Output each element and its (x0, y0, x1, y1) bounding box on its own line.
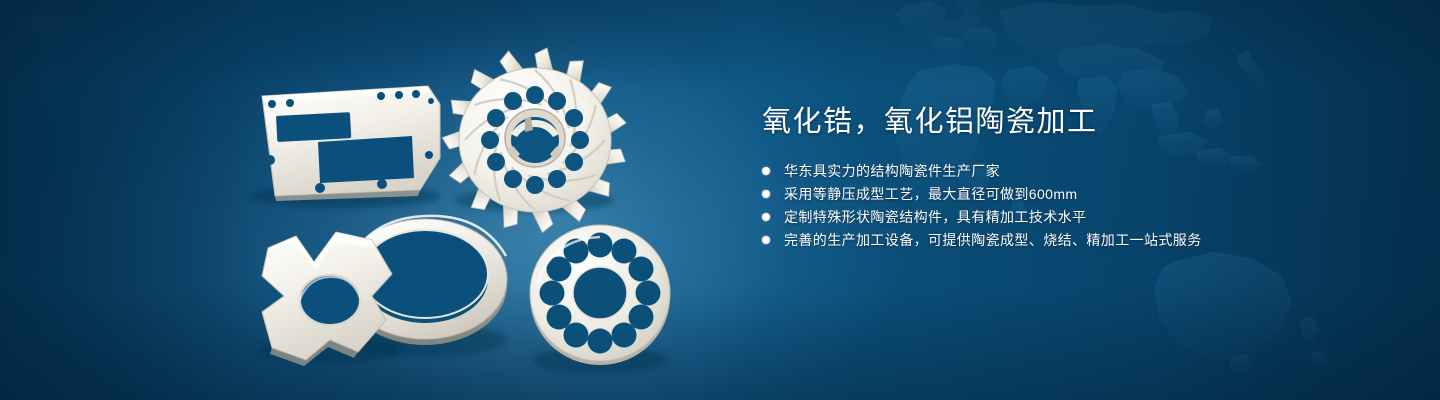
list-item: 采用等静压成型工艺，最大直径可做到600mm (762, 186, 1382, 202)
list-item-label: 定制特殊形状陶瓷结构件，具有精加工技术水平 (784, 209, 1086, 225)
ceramic-perforated-disc (530, 225, 670, 373)
feature-list: 华东具实力的结构陶瓷件生产厂家 采用等静压成型工艺，最大直径可做到600mm 定… (762, 163, 1382, 248)
list-item: 华东具实力的结构陶瓷件生产厂家 (762, 163, 1382, 179)
page-title: 氧化锆，氧化铝陶瓷加工 (762, 106, 1382, 139)
ceramic-impeller (442, 48, 628, 234)
ceramic-mounting-plate (250, 86, 440, 208)
bullet-dot-icon (762, 236, 770, 244)
list-item-label: 完善的生产加工设备，可提供陶瓷成型、烧结、精加工一站式服务 (784, 232, 1202, 248)
banner-text-block: 氧化锆，氧化铝陶瓷加工 华东具实力的结构陶瓷件生产厂家 采用等静压成型工艺，最大… (762, 106, 1382, 248)
list-item-label: 华东具实力的结构陶瓷件生产厂家 (784, 163, 1000, 179)
promo-banner: 氧化锆，氧化铝陶瓷加工 华东具实力的结构陶瓷件生产厂家 采用等静压成型工艺，最大… (0, 0, 1440, 400)
list-item-label: 采用等静压成型工艺，最大直径可做到600mm (784, 186, 1077, 202)
product-photo-group (0, 0, 740, 400)
bullet-dot-icon (762, 190, 770, 198)
bullet-dot-icon (762, 213, 770, 221)
list-item: 完善的生产加工设备，可提供陶瓷成型、烧结、精加工一站式服务 (762, 232, 1382, 248)
bullet-dot-icon (762, 167, 770, 175)
products-svg (0, 0, 740, 400)
list-item: 定制特殊形状陶瓷结构件，具有精加工技术水平 (762, 209, 1382, 225)
